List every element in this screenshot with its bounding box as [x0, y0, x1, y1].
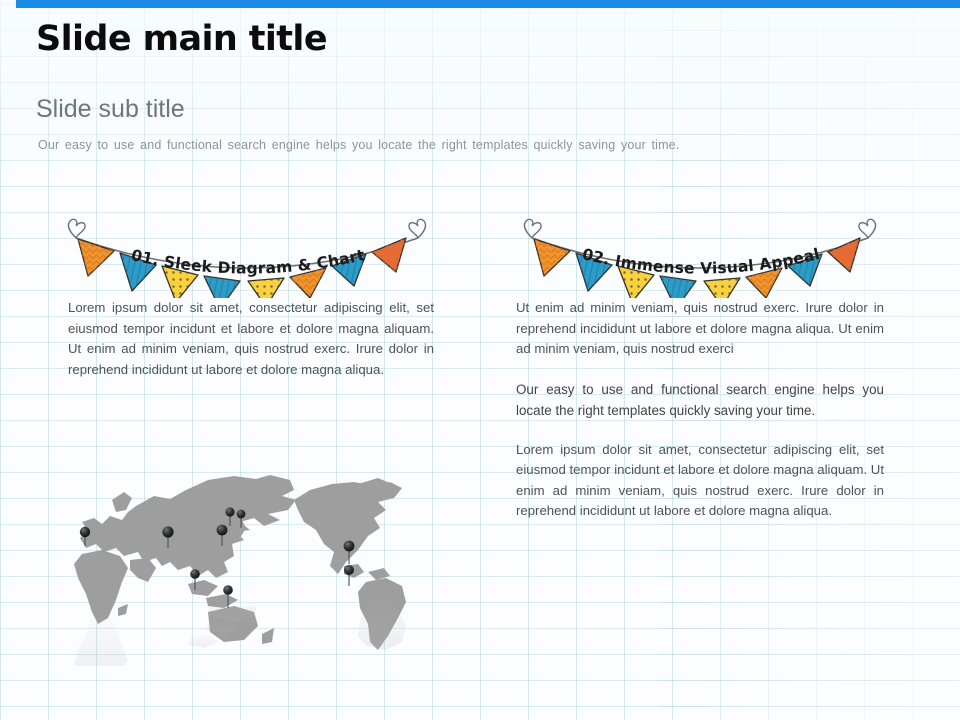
- right-paragraph-2: Our easy to use and functional search en…: [516, 379, 884, 421]
- flag-8-orange: [372, 238, 406, 272]
- right-paragraph-3: Lorem ipsum dolor sit amet, consectetur …: [516, 440, 884, 522]
- bunting-label-right: 02. Immense Visual Appeal: [580, 245, 821, 278]
- caribbean: [368, 568, 390, 580]
- bunting-knot-left: [524, 219, 541, 238]
- indonesia: [206, 594, 238, 608]
- flag-4-blue: [660, 276, 696, 298]
- page-description: Our easy to use and functional search en…: [38, 138, 868, 152]
- flag-1-orange: [78, 239, 114, 276]
- right-paragraph-1: Ut enim ad minim veniam, quis nostrud ex…: [516, 298, 884, 360]
- arabia-india: [130, 558, 156, 582]
- flag-1-orange: [534, 239, 570, 276]
- top-accent-bar: [16, 0, 960, 8]
- slide-canvas: Slide main title Slide sub title Our eas…: [0, 0, 960, 720]
- slide-header: Slide main title: [36, 20, 916, 59]
- flag-5-yellow: [704, 278, 740, 298]
- bunting-banner-right: 02. Immense Visual Appeal: [516, 206, 884, 298]
- map-landmasses: [74, 475, 406, 650]
- right-column: 02. Immense Visual Appeal Ut enim ad min…: [516, 206, 884, 541]
- southeast-asia: [188, 580, 218, 596]
- left-paragraph-1: Lorem ipsum dolor sit amet, consectetur …: [68, 298, 434, 380]
- bunting-banner-left: 01. Sleek Diagram & Chart: [58, 206, 436, 298]
- north-america: [294, 482, 402, 574]
- left-column: 01. Sleek Diagram & Chart Lorem ipsum do…: [58, 206, 436, 399]
- page-subtitle: Slide sub title: [36, 95, 185, 124]
- bunting-knot-right: [859, 219, 876, 238]
- flag-4-blue: [204, 276, 240, 298]
- bunting-knot-right: [409, 219, 426, 238]
- bunting-knot-left: [68, 219, 85, 238]
- new-zealand: [262, 628, 274, 644]
- madagascar: [118, 604, 128, 616]
- world-map: [58, 466, 458, 666]
- scandinavia: [112, 492, 132, 512]
- flag-5-yellow: [248, 278, 284, 298]
- page-title: Slide main title: [36, 20, 916, 59]
- flag-8-orange: [828, 238, 860, 272]
